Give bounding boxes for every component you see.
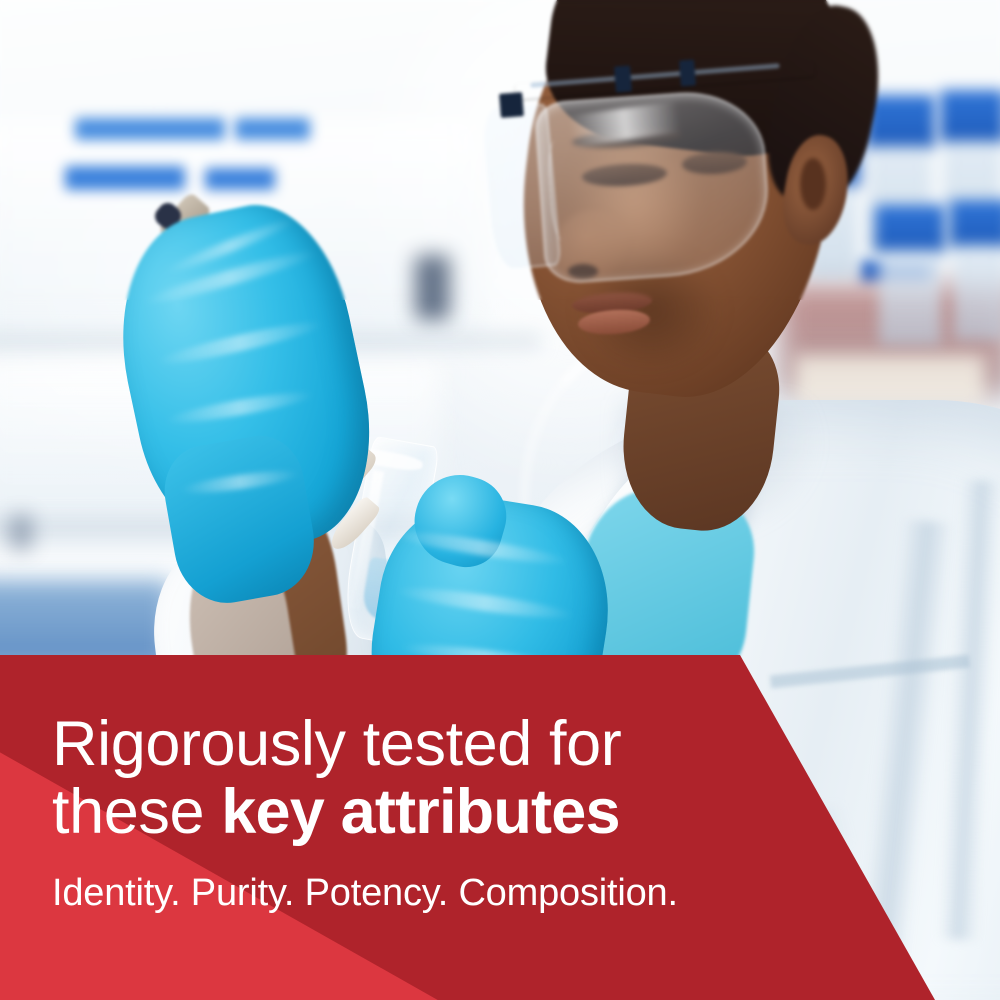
bottle-cap (940, 90, 1000, 144)
banner-copy: Rigorously tested for these key attribut… (52, 710, 792, 916)
ear-inner (800, 158, 826, 210)
reagent-label-strip (795, 355, 985, 405)
safety-glasses-hinge (679, 59, 696, 86)
headline-bold-text: key attributes (221, 777, 619, 847)
safety-glasses-hinge (614, 65, 632, 92)
bottle-cap (950, 200, 1000, 248)
blue-label-chip (75, 118, 225, 140)
safety-glasses-hinge (499, 92, 524, 118)
instrument-silhouette (10, 515, 32, 550)
headline-line-1: Rigorously tested for (52, 710, 792, 778)
bottle-body (879, 250, 941, 345)
instrument-silhouette (415, 255, 450, 320)
headline-light-text: these (52, 777, 221, 847)
bottle-cap (875, 205, 945, 253)
headline-line-2: these key attributes (52, 778, 792, 846)
subheadline: Identity. Purity. Potency. Composition. (52, 872, 792, 916)
promo-image: Rigorously tested for these key attribut… (0, 0, 1000, 1000)
blue-label-chip (65, 166, 185, 190)
blue-label-chip (205, 168, 275, 190)
bottle-body (954, 245, 1000, 340)
reagent-bottle (950, 200, 1000, 340)
blue-label-chip (235, 118, 310, 140)
reagent-bottle (875, 205, 945, 345)
